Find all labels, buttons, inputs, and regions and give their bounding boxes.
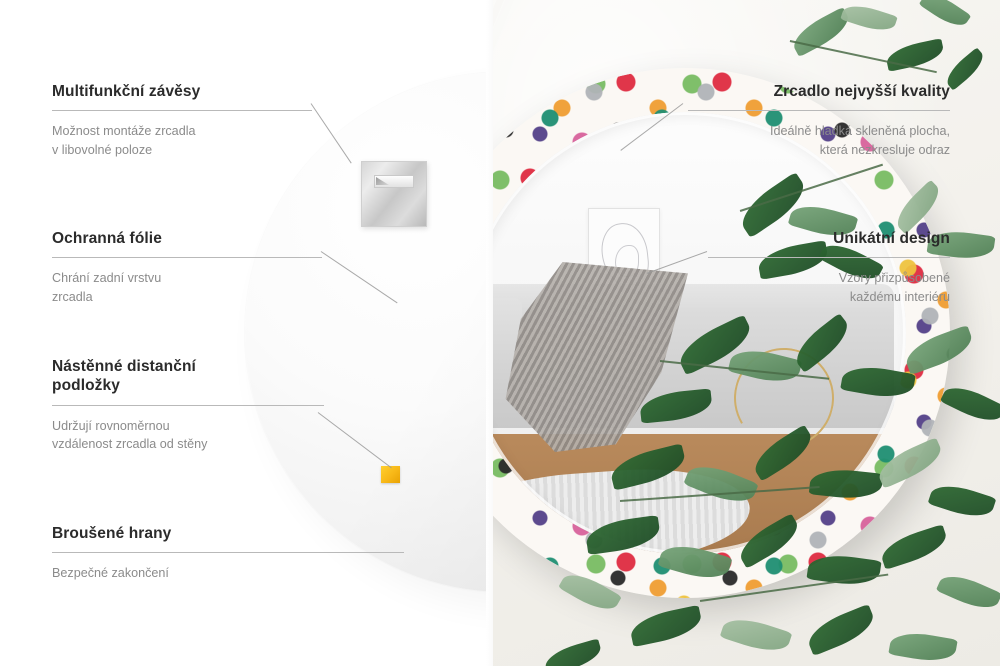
callout-description: Udržují rovnoměrnou vzdálenost zrcadla o… — [52, 417, 324, 454]
panel-seam — [486, 0, 493, 666]
callout-rule — [52, 405, 324, 406]
callout-title: Zrcadlo nejvyšší kvality — [688, 82, 950, 101]
callout-rule — [52, 552, 404, 553]
callout-title: Multifunkční závěsy — [52, 82, 312, 101]
callout-description: Vzory přizpůsobené každému interiéru — [708, 269, 950, 306]
callout-title: Ochranná fólie — [52, 229, 322, 248]
callout-title: Unikátní design — [708, 229, 950, 248]
callout-unikatni-design: Unikátní design Vzory přizpůsobené každé… — [708, 229, 950, 306]
callout-zrcadlo-nejvyssi-kvality: Zrcadlo nejvyšší kvality Ideálně hladká … — [688, 82, 950, 159]
callout-description: Chrání zadní vrstvu zrcadla — [52, 269, 322, 306]
callout-multifunkcni-zavesy: Multifunkční závěsy Možnost montáže zrca… — [52, 82, 312, 159]
callout-rule — [708, 257, 950, 258]
callout-description: Ideálně hladká skleněná plocha, která ne… — [688, 122, 950, 159]
callout-description: Možnost montáže zrcadla v libovolné polo… — [52, 122, 312, 159]
callout-title: Broušené hrany — [52, 524, 404, 543]
wall-spacer-marker — [381, 466, 400, 483]
callout-rule — [688, 110, 950, 111]
callout-rule — [52, 257, 322, 258]
callout-rule — [52, 110, 312, 111]
hanging-bracket-marker — [361, 161, 427, 227]
infographic-canvas: Multifunkční závěsy Možnost montáže zrca… — [0, 0, 1000, 666]
callout-ochranna-folie: Ochranná fólie Chrání zadní vrstvu zrcad… — [52, 229, 322, 306]
callout-title: Nástěnné distanční podložky — [52, 357, 324, 396]
bracket-keyhole-slot — [374, 175, 414, 188]
callout-description: Bezpečné zakončení — [52, 564, 404, 582]
callout-nastenne-distancni-podlozky: Nástěnné distanční podložky Udržují rovn… — [52, 357, 324, 453]
callout-brousene-hrany: Broušené hrany Bezpečné zakončení — [52, 524, 404, 583]
